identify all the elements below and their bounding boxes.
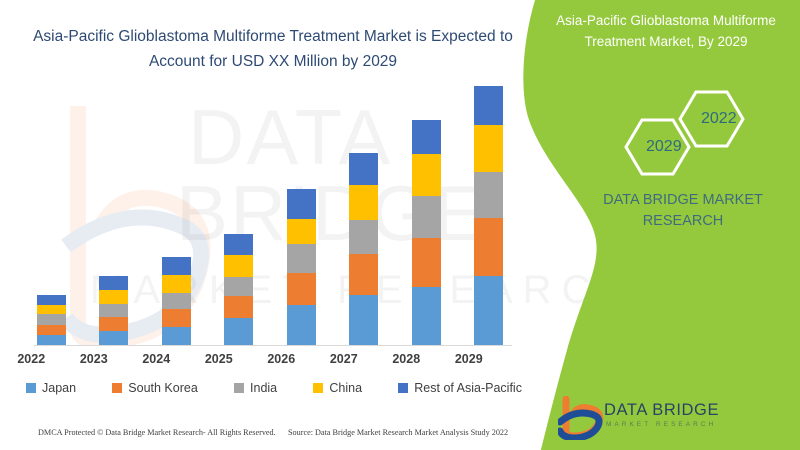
bar-column	[145, 257, 207, 345]
legend-label: India	[250, 381, 277, 395]
bar-column	[83, 276, 145, 345]
bar-segment	[37, 325, 66, 335]
bar-segment	[349, 254, 378, 295]
bar-segment	[99, 317, 128, 330]
x-axis-label: 2029	[438, 352, 500, 366]
bar-segment	[412, 238, 441, 287]
legend-item[interactable]: China	[313, 381, 362, 395]
panel-brand-line1: DATA BRIDGE MARKET	[578, 192, 788, 208]
bar-segment	[287, 189, 316, 219]
chart-x-axis	[34, 345, 512, 346]
x-axis-label: 2025	[188, 352, 250, 366]
x-axis-label: 2027	[313, 352, 375, 366]
bar-segment	[162, 293, 191, 309]
footer-dmca-notice: DMCA Protected © Data Bridge Market Rese…	[38, 428, 276, 437]
bar-segment	[162, 309, 191, 326]
legend-swatch-icon	[398, 383, 408, 393]
hexagon-group: 2022 2029	[600, 78, 790, 188]
legend-item[interactable]: Rest of Asia-Pacific	[398, 381, 522, 395]
bar-segment	[287, 244, 316, 273]
logo-sub-text: MARKET RESEARCH	[606, 421, 716, 428]
bar-segment	[287, 305, 316, 345]
bar-column	[333, 153, 395, 345]
legend-swatch-icon	[26, 383, 36, 393]
chart-x-tick-labels: 20222023202420252026202720282029	[0, 352, 500, 366]
bar-segment	[474, 276, 503, 345]
bar-segment	[99, 290, 128, 304]
legend-swatch-icon	[234, 383, 244, 393]
legend-swatch-icon	[112, 383, 122, 393]
bar-segment	[162, 257, 191, 274]
legend-item[interactable]: India	[234, 381, 277, 395]
panel-title: Asia-Pacific Glioblastoma Multiforme Tre…	[538, 10, 794, 52]
bar-column	[458, 86, 520, 345]
bar-segment	[99, 276, 128, 290]
bar-segment	[162, 275, 191, 293]
bar-segment	[224, 318, 253, 345]
bar-segment	[412, 120, 441, 155]
bar-segment	[287, 273, 316, 306]
bar-column	[270, 189, 332, 345]
bar-segment	[224, 255, 253, 276]
bar-segment	[37, 305, 66, 314]
bar-segment	[224, 296, 253, 318]
bar-segment	[224, 234, 253, 255]
bar-column	[20, 295, 82, 345]
x-axis-label: 2023	[63, 352, 125, 366]
legend-item[interactable]: South Korea	[112, 381, 198, 395]
bar-segment	[474, 86, 503, 125]
bar-segment	[37, 295, 66, 305]
bar-segment	[349, 295, 378, 345]
x-axis-label: 2022	[0, 352, 62, 366]
bar-segment	[349, 185, 378, 220]
legend-swatch-icon	[313, 383, 323, 393]
hexagon-shapes-icon	[600, 78, 790, 188]
chart-legend: JapanSouth KoreaIndiaChinaRest of Asia-P…	[26, 381, 522, 395]
bar-segment	[162, 327, 191, 345]
x-axis-label: 2026	[250, 352, 312, 366]
bar-segment	[412, 287, 441, 345]
stacked-bar-chart	[20, 90, 520, 346]
bar-segment	[99, 304, 128, 317]
x-axis-label: 2028	[375, 352, 437, 366]
bar-segment	[37, 335, 66, 345]
logo-main-text: DATA BRIDGE	[604, 401, 719, 420]
bar-column	[208, 234, 270, 345]
page-title: Asia-Pacific Glioblastoma Multiforme Tre…	[28, 24, 518, 74]
bar-segment	[287, 219, 316, 245]
legend-item[interactable]: Japan	[26, 381, 76, 395]
bar-segment	[474, 218, 503, 276]
bar-segment	[224, 277, 253, 296]
bar-segment	[99, 331, 128, 345]
legend-label: Japan	[42, 381, 76, 395]
bar-segment	[349, 220, 378, 255]
panel-brand-line2: RESEARCH	[578, 213, 788, 229]
bar-segment	[37, 314, 66, 324]
legend-label: Rest of Asia-Pacific	[414, 381, 522, 395]
bar-segment	[349, 153, 378, 185]
x-axis-label: 2024	[125, 352, 187, 366]
infographic-page: DATA BRIDGE MARKET RESEARCH Asia-Pacific…	[0, 0, 800, 450]
bar-segment	[412, 154, 441, 196]
bar-column	[395, 120, 457, 345]
legend-label: South Korea	[128, 381, 198, 395]
hexagon-2029-label: 2029	[646, 138, 682, 156]
bar-segment	[412, 196, 441, 238]
chart-bars-container	[20, 90, 520, 345]
bar-segment	[474, 125, 503, 172]
bar-segment	[474, 172, 503, 218]
hexagon-2022-label: 2022	[701, 110, 737, 128]
legend-label: China	[329, 381, 362, 395]
footer-source-note: Source: Data Bridge Market Research Mark…	[288, 428, 508, 437]
